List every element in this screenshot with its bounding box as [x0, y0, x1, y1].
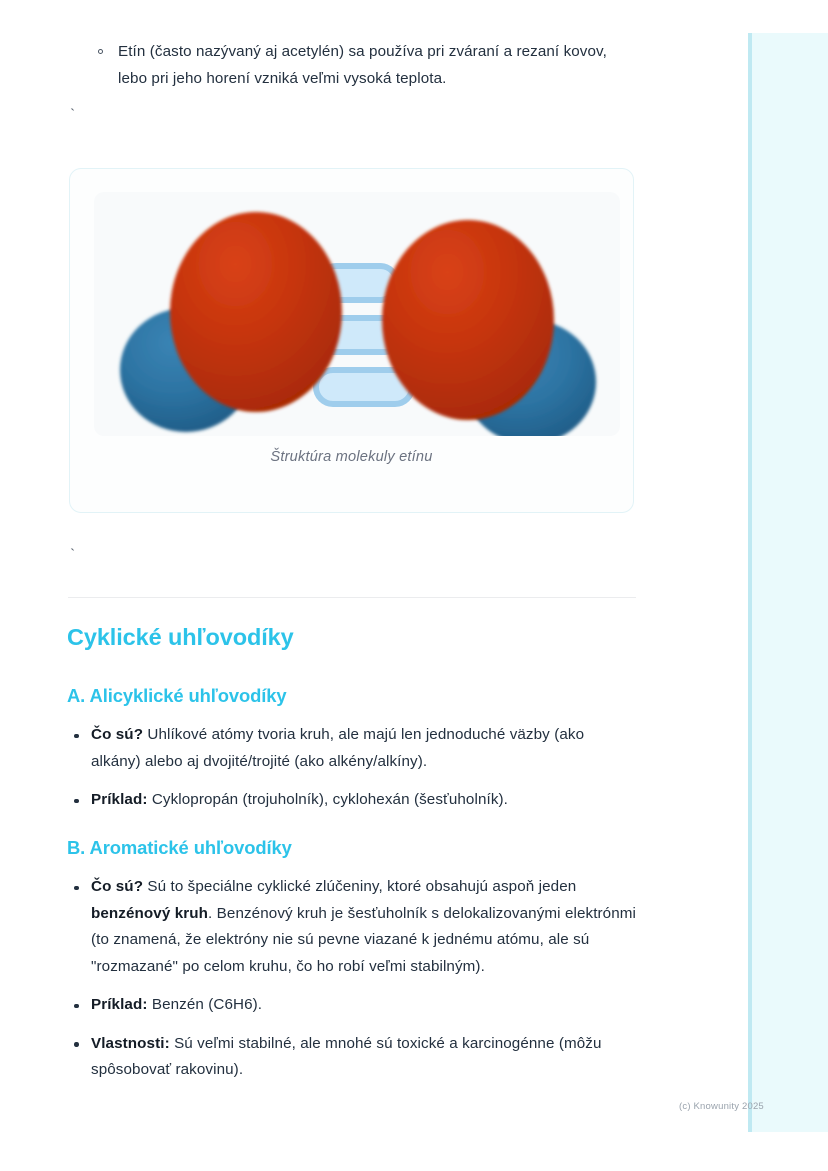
page-title: Cyklické uhľovodíky	[67, 624, 294, 651]
intro-list: Etín (často nazývaný aj acetylén) sa pou…	[96, 38, 628, 92]
alicyclic-list: Čo sú? Uhlíkové atómy tvoria kruh, ale m…	[68, 722, 638, 814]
page-edge-rule	[748, 33, 752, 1132]
list-item-text: Cyklopropán (trojuholník), cyklohexán (š…	[148, 791, 508, 808]
list-item: Čo sú? Uhlíkové atómy tvoria kruh, ale m…	[68, 722, 638, 775]
figure-caption: Štruktúra molekuly etínu	[70, 449, 633, 465]
page-edge-stripe	[748, 33, 828, 1132]
list-item-label: Príklad:	[91, 996, 148, 1013]
list-item-label: Vlastnosti:	[91, 1035, 170, 1052]
list-item-text: Benzén (C6H6).	[148, 996, 263, 1013]
figure-image-panel	[94, 192, 620, 436]
list-item: Vlastnosti: Sú veľmi stabilné, ale mnohé…	[68, 1031, 638, 1084]
subsection-heading-b: B. Aromatické uhľovodíky	[67, 837, 292, 859]
list-item: Príklad: Cyklopropán (trojuholník), cykl…	[68, 787, 638, 814]
list-item-label: Čo sú?	[91, 726, 143, 743]
list-item-label: Príklad:	[91, 791, 148, 808]
section-divider	[68, 597, 636, 598]
list-item: Etín (často nazývaný aj acetylén) sa pou…	[96, 38, 628, 92]
document-page: Etín (často nazývaný aj acetylén) sa pou…	[0, 0, 828, 1171]
figure-card: Štruktúra molekuly etínu	[69, 168, 634, 513]
list-item-text: Uhlíkové atómy tvoria kruh, ale majú len…	[91, 726, 584, 770]
subsection-heading-a: A. Alicyklické uhľovodíky	[67, 685, 287, 707]
stray-backtick-bottom: `	[68, 548, 77, 563]
list-item: Príklad: Benzén (C6H6).	[68, 992, 638, 1019]
list-item-text: Sú to špeciálne cyklické zlúčeniny, ktor…	[143, 878, 576, 895]
copyright-footer: (c) Knowunity 2025	[679, 1101, 764, 1112]
aromatic-list: Čo sú? Sú to špeciálne cyklické zlúčenin…	[68, 874, 638, 1084]
list-item-emphasis: benzénový kruh	[91, 905, 208, 922]
list-item-label: Čo sú?	[91, 878, 143, 895]
ethyne-molecule-illustration	[94, 192, 620, 436]
list-item: Čo sú? Sú to špeciálne cyklické zlúčenin…	[68, 874, 638, 980]
stray-backtick-top: `	[68, 108, 77, 123]
